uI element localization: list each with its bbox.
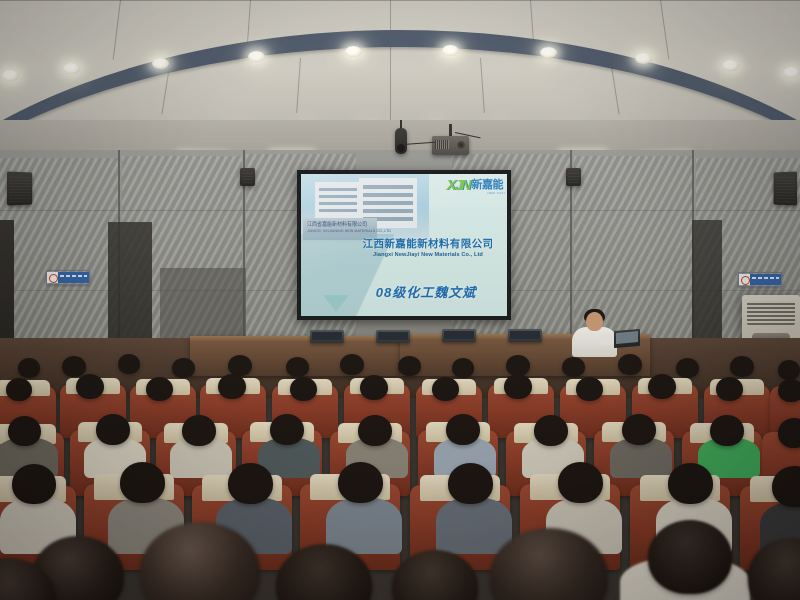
no-smoking-sign-right	[738, 272, 782, 287]
audience-head	[446, 414, 480, 445]
desk-monitor	[508, 329, 542, 342]
ceiling-projector	[432, 136, 469, 155]
audience-head	[452, 358, 474, 378]
ceiling-spotlight	[152, 58, 169, 69]
laptop-screen	[616, 331, 638, 344]
audience-head	[668, 463, 713, 504]
ceiling-camera	[395, 128, 407, 154]
audience-head	[172, 358, 195, 378]
audience-head	[778, 379, 800, 402]
projection-screen-frame: 江西省嘉能新材料有限公司 JIANGXI XINJIANING NEW MATE…	[297, 170, 511, 320]
audience-head	[710, 415, 744, 446]
audience-head	[8, 416, 41, 446]
projector-lens	[457, 141, 465, 149]
audience-head	[286, 357, 309, 377]
audience-head	[398, 356, 421, 376]
camera-lens	[397, 144, 405, 152]
ceiling-spotlight	[722, 60, 739, 71]
audience-head	[270, 414, 304, 445]
audience-head	[6, 378, 32, 401]
audience-head	[558, 462, 603, 503]
slide-company-name-en: Jiangxi NewJiayi New Materials Co., Ltd	[353, 252, 503, 258]
logo-mark-text: XJN	[446, 178, 469, 193]
audience-head	[562, 357, 585, 377]
audience-head	[360, 375, 388, 400]
audience-head	[146, 377, 173, 401]
ceiling-spotlight	[783, 67, 800, 78]
logo-cn-text: 新嘉能	[472, 180, 504, 191]
desk-monitor	[442, 329, 476, 342]
slide-building-photo: 江西省嘉能新材料有限公司 JIANGXI XINJIANING NEW MATE…	[301, 174, 429, 242]
wall-speaker-right	[774, 172, 797, 206]
projection-screen: 江西省嘉能新材料有限公司 JIANGXI XINJIANING NEW MATE…	[301, 174, 507, 316]
audience-head	[228, 463, 273, 504]
audience-head-foreground	[648, 520, 732, 594]
ceiling-seam	[113, 0, 121, 60]
ceiling-spotlight	[248, 51, 265, 62]
audience-head	[618, 354, 642, 375]
desk-monitor	[310, 330, 344, 343]
audience-head	[778, 418, 800, 448]
audience-head	[120, 462, 165, 503]
audience-head	[730, 356, 754, 377]
audience-seating	[0, 352, 800, 600]
audience-head	[534, 415, 568, 446]
photo-wall-cn-text: 江西省嘉能新材料有限公司	[307, 221, 367, 229]
no-smoking-icon	[47, 272, 58, 283]
audience-head	[18, 358, 40, 378]
slide-presenter-line: 08级化工魏文斌	[341, 282, 507, 301]
audience-head	[96, 414, 130, 445]
audience-head	[432, 377, 459, 401]
audience-head	[778, 360, 800, 380]
audience-head	[504, 374, 532, 399]
audience-head	[62, 356, 86, 377]
audience-shoulders	[436, 498, 512, 554]
wall-speaker-right-inner	[566, 168, 581, 186]
audience-head	[340, 354, 364, 375]
projector-vent	[435, 140, 449, 149]
audience-head	[716, 377, 743, 401]
lecture-hall-photo: 江西省嘉能新材料有限公司 JIANGXI XINJIANING NEW MATE…	[0, 0, 800, 600]
no-smoking-sign-left	[46, 270, 90, 285]
ceiling-spotlight	[2, 70, 19, 81]
ceiling-spotlight	[442, 45, 459, 56]
presenter-laptop	[614, 329, 640, 348]
audience-head	[648, 374, 676, 399]
audience-head	[290, 377, 317, 401]
desk-monitor	[376, 330, 410, 343]
slide-company-name-cn: 江西新嘉能新材料有限公司	[353, 236, 503, 251]
ceiling-spotlight	[635, 53, 652, 64]
logo-en-text: NEW JIAYI	[488, 191, 505, 195]
ceiling-seam	[660, 0, 669, 59]
audience-head	[218, 374, 246, 399]
audience-head	[622, 414, 656, 445]
audience-head	[448, 463, 493, 504]
desk-surface	[190, 336, 400, 341]
audience-head	[228, 355, 252, 376]
sign-text-plate	[58, 272, 89, 283]
ac-grille	[747, 301, 795, 325]
ceiling-spotlight	[540, 47, 557, 58]
audience-head	[76, 374, 104, 399]
audience-head	[12, 464, 56, 504]
photo-wall-en-text: JIANGXI XINJIANING NEW MATERIALS CO.,LTD	[307, 229, 391, 233]
audience-head	[506, 355, 530, 376]
ceiling-spotlight	[345, 46, 362, 57]
wall-speaker-left	[7, 171, 32, 205]
wall-speaker-left-inner	[240, 168, 255, 186]
audience-head	[358, 415, 392, 446]
no-smoking-icon	[739, 274, 750, 285]
audience-head	[118, 354, 140, 374]
sign-text-plate	[750, 274, 781, 285]
audience-head	[338, 462, 383, 503]
audience-head	[676, 358, 699, 378]
presenter-head	[586, 312, 603, 331]
audience-head	[576, 377, 603, 401]
audience-head	[182, 415, 216, 446]
ceiling-spotlight	[63, 63, 80, 74]
